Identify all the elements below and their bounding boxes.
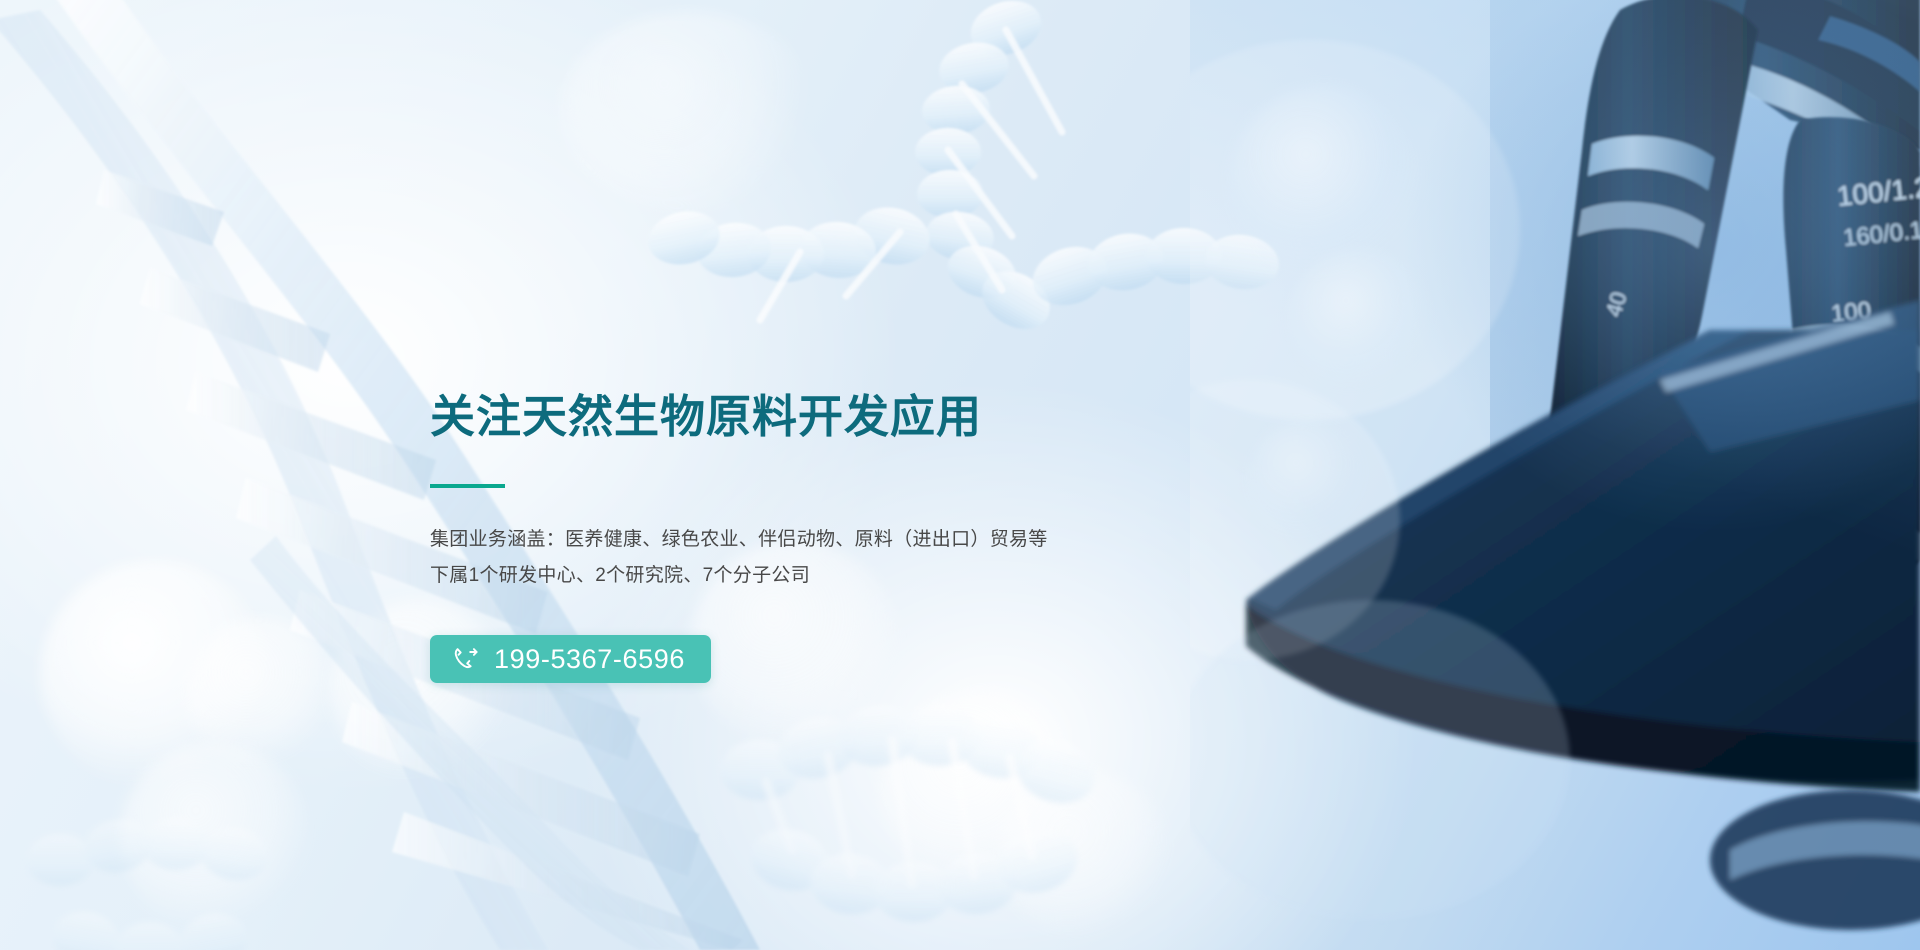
hero-subtitle: 集团业务涵盖：医养健康、绿色农业、伴侣动物、原料（进出口）贸易等 下属1个研发中… — [430, 488, 1230, 594]
page-title: 关注天然生物原料开发应用 — [430, 392, 1230, 442]
microscope-photo: 40 100/1.25 160/0.17 100 — [1190, 0, 1920, 950]
phone-cta-button[interactable]: 199-5367-6596 — [430, 635, 711, 683]
hero-subtitle-line: 集团业务涵盖：医养健康、绿色农业、伴侣动物、原料（进出口）贸易等 — [430, 522, 1230, 558]
phone-number-label: 199-5367-6596 — [494, 646, 685, 673]
phone-forward-icon — [452, 645, 480, 673]
microscope-haze-overlay — [1190, 0, 1920, 950]
hero-banner: 40 100/1.25 160/0.17 100 — [0, 0, 1920, 950]
hero-content: 关注天然生物原料开发应用 集团业务涵盖：医养健康、绿色农业、伴侣动物、原料（进出… — [430, 392, 1230, 683]
hero-subtitle-line: 下属1个研发中心、2个研究院、7个分子公司 — [430, 558, 1230, 594]
